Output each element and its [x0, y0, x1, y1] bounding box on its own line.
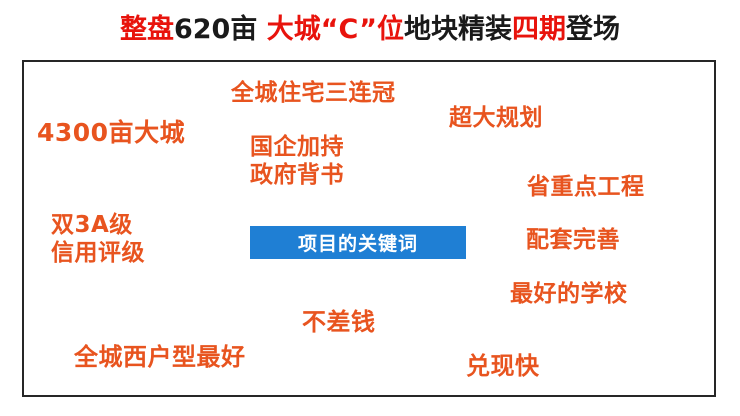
center-keyword-chip: 项目的关键词	[250, 226, 466, 259]
keyword-duixian-kuai: 兑现快	[466, 352, 540, 380]
title-segment-4: 地块精装	[404, 14, 512, 45]
title-segment-2: 620亩	[174, 14, 257, 45]
keyword-sheng-zhongdian-gongcheng: 省重点工程	[527, 174, 645, 201]
keyword-line: 超大规划	[449, 105, 543, 132]
center-chip-label: 项目的关键词	[298, 229, 418, 256]
keyword-line: 省重点工程	[527, 174, 645, 201]
keyword-line: 兑现快	[466, 352, 540, 380]
title-segment-1: 整盘	[120, 14, 174, 45]
keyword-line: 不差钱	[302, 308, 376, 336]
keyword-line: 配套完善	[526, 227, 620, 254]
title-segment-5: 四期	[512, 14, 566, 45]
keyword-4300mu-dacheng: 4300亩大城	[37, 118, 185, 148]
keyword-line: 政府背书	[250, 162, 344, 190]
keyword-quancheng-xihuxing-zuihao: 全城西户型最好	[74, 343, 246, 371]
keyword-line: 4300亩大城	[37, 118, 185, 148]
keyword-guoqi-jiachi-zhengfu-beishu: 国企加持 政府背书	[250, 134, 344, 189]
keyword-chaoda-guihua: 超大规划	[449, 105, 543, 132]
keyword-line: 双3A级	[51, 212, 145, 240]
keyword-line: 全城住宅三连冠	[231, 80, 396, 107]
keyword-line: 全城西户型最好	[74, 343, 246, 371]
title-segment-6: 登场	[566, 14, 620, 45]
keyword-zuihao-de-xuexiao: 最好的学校	[510, 281, 628, 308]
keyword-quancheng-zhuzhai-sanlianguan: 全城住宅三连冠	[231, 80, 396, 107]
keyword-line: 国企加持	[250, 134, 344, 162]
keyword-line: 最好的学校	[510, 281, 628, 308]
title-segment-3: 大城“C”位	[257, 14, 404, 45]
keyword-peitao-wanshan: 配套完善	[526, 227, 620, 254]
keyword-line: 信用评级	[51, 240, 145, 268]
page-title: 整盘620亩 大城“C”位地块精装四期登场	[0, 14, 740, 46]
keyword-shuang-3a-xinyong-pingji: 双3A级 信用评级	[51, 212, 145, 267]
keyword-bu-chaqian: 不差钱	[302, 308, 376, 336]
